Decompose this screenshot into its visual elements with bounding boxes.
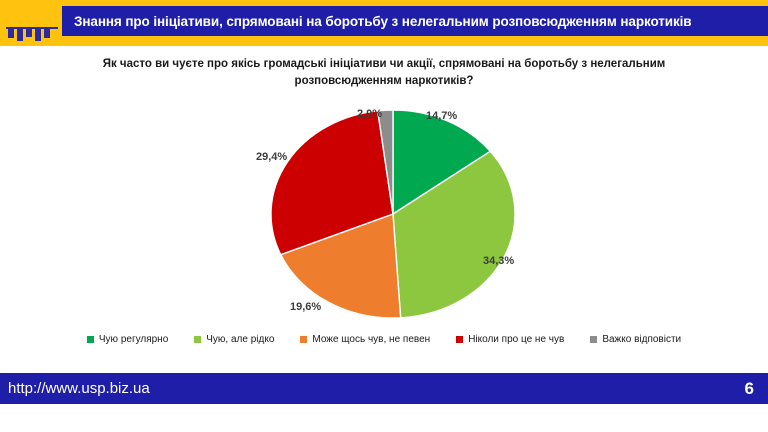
- banner-title-bar: Знання про ініціативи, спрямовані на бор…: [62, 6, 768, 36]
- legend-item-label: Може щось чув, не певен: [312, 334, 430, 345]
- legend-item-label: Чую, але рідко: [206, 334, 274, 345]
- pie-label-chuyu-ale-ridko: 34,3%: [483, 255, 514, 267]
- legend-item[interactable]: Важко відповісти: [590, 334, 681, 345]
- legend-item[interactable]: Чую регулярно: [87, 334, 168, 345]
- legend-swatch-icon: [194, 336, 201, 343]
- chart-legend: Чую регулярноЧую, але рідкоМоже щось чув…: [0, 334, 768, 345]
- page-number: 6: [745, 379, 768, 399]
- legend-item-label: Важко відповісти: [602, 334, 681, 345]
- pie-label-mozhe-shchos-chuv: 19,6%: [290, 301, 321, 313]
- top-banner: Знання про ініціативи, спрямовані на бор…: [0, 0, 768, 46]
- legend-item-label: Чую регулярно: [99, 334, 168, 345]
- legend-swatch-icon: [456, 336, 463, 343]
- legend-item[interactable]: Може щось чув, не певен: [300, 334, 430, 345]
- pie-label-chuyu-regulyarno: 14,7%: [426, 110, 457, 122]
- legend-swatch-icon: [87, 336, 94, 343]
- legend-item-label: Ніколи про це не чув: [468, 334, 564, 345]
- footer-url-link[interactable]: http://www.usp.biz.ua: [0, 380, 150, 397]
- pie-chart: [268, 108, 518, 320]
- legend-item[interactable]: Ніколи про це не чув: [456, 334, 564, 345]
- usp-bar-chart-logo-icon: [6, 4, 58, 42]
- pie-label-nikoly-ne-chuv: 29,4%: [256, 151, 287, 163]
- legend-item[interactable]: Чую, але рідко: [194, 334, 274, 345]
- legend-swatch-icon: [590, 336, 597, 343]
- footer-bar: http://www.usp.biz.ua 6: [0, 373, 768, 404]
- legend-swatch-icon: [300, 336, 307, 343]
- chart-question-title: Як часто ви чуєте про якісь громадські і…: [64, 56, 704, 89]
- pie-label-vazhko-vidpovisty: 2,0%: [357, 108, 382, 120]
- slide-title: Знання про ініціативи, спрямовані на бор…: [62, 14, 692, 29]
- pie-chart-svg: [268, 108, 518, 320]
